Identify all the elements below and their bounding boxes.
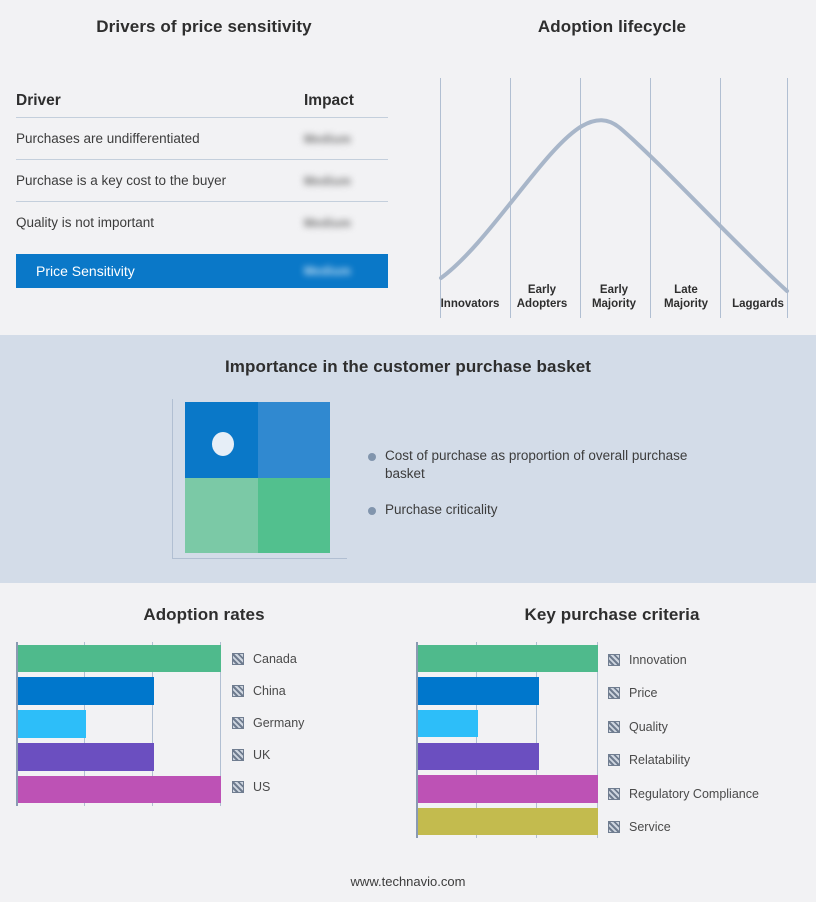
legend-label: Price (629, 686, 657, 700)
key-purchase-criteria-legend: InnovationPriceQualityRelatabilityRegula… (608, 643, 759, 844)
bar-slot (418, 675, 598, 708)
bullet-icon (368, 453, 376, 461)
legend-item: US (232, 771, 304, 803)
legend-swatch-icon (232, 653, 244, 665)
legend-item: Regulatory Compliance (608, 777, 759, 811)
legend-item: Quality (608, 710, 759, 744)
list-item: Purchase criticality (368, 501, 698, 519)
drivers-table: Driver Impact Purchases are undifferenti… (16, 92, 388, 288)
legend-item: Canada (232, 643, 304, 675)
driver-label: Quality is not important (16, 215, 304, 230)
legend-swatch-icon (608, 788, 620, 800)
impact-value: Medium (304, 130, 388, 148)
legend-swatch-icon (608, 754, 620, 766)
legend-label: Quality (629, 720, 668, 734)
adoption-rates-legend: CanadaChinaGermanyUKUS (232, 643, 304, 803)
legend-swatch-icon (608, 721, 620, 733)
impact-redacted-text: Medium (304, 132, 351, 146)
highlight-impact-value: Medium (304, 262, 388, 280)
legend-label: Relatability (629, 753, 690, 767)
legend-item: Service (608, 811, 759, 845)
bar-relatability (418, 743, 539, 770)
bullet-icon (368, 507, 376, 515)
bar-service (418, 808, 598, 835)
bar-slot (18, 642, 221, 675)
key-purchase-criteria-plot (416, 642, 598, 838)
impact-value: Medium (304, 214, 388, 232)
stage-line-2: Laggards (722, 298, 794, 312)
legend-swatch-icon (232, 685, 244, 697)
legend-swatch-icon (608, 654, 620, 666)
bar-innovation (418, 645, 598, 672)
quadrant-bottom-left (185, 478, 258, 554)
key-purchase-criteria-chart (416, 642, 598, 838)
adoption-rates-chart (16, 642, 221, 806)
legend-swatch-icon (608, 821, 620, 833)
bar-slot (418, 707, 598, 740)
stage-line-2: Adopters (506, 298, 578, 312)
list-item: Cost of purchase as proportion of overal… (368, 447, 698, 483)
matrix-y-axis (172, 399, 173, 559)
legend-label: UK (253, 748, 270, 762)
legend-item: China (232, 675, 304, 707)
bar-slot (418, 773, 598, 806)
column-header-driver: Driver (16, 92, 304, 110)
legend-label: Germany (253, 716, 304, 730)
adoption-rates-bars (18, 642, 221, 806)
stage-line-2: Majority (578, 298, 650, 312)
stage-line-1: Early (506, 284, 578, 298)
bar-slot (418, 805, 598, 838)
legend-swatch-icon (232, 717, 244, 729)
adoption-rates-plot (16, 642, 221, 806)
bar-quality (418, 710, 478, 737)
driver-label: Purchases are undifferentiated (16, 131, 304, 146)
impact-value: Medium (304, 172, 388, 190)
stage-line-1: Early (578, 284, 650, 298)
quadrant-bottom-right (258, 478, 331, 554)
importance-title: Importance in the customer purchase bask… (0, 357, 816, 377)
table-row: Purchase is a key cost to the buyer Medi… (16, 159, 388, 201)
bar-slot (18, 773, 221, 806)
key-purchase-criteria-bars (418, 642, 598, 838)
importance-legend: Cost of purchase as proportion of overal… (368, 447, 698, 537)
bar-slot (18, 708, 221, 741)
key-purchase-criteria-panel: Key purchase criteria InnovationPriceQua… (408, 583, 816, 902)
legend-label: Service (629, 820, 671, 834)
lifecycle-stage-early-adopters: Early Adopters (506, 272, 578, 314)
lifecycle-stage-late-majority: Late Majority (650, 272, 722, 314)
stage-line-2: Innovators (434, 298, 506, 312)
column-header-impact: Impact (304, 92, 388, 110)
legend-item: Price (608, 677, 759, 711)
legend-item: Germany (232, 707, 304, 739)
lifecycle-stage-innovators: Innovators (434, 272, 506, 314)
legend-swatch-icon (232, 749, 244, 761)
legend-item: UK (232, 739, 304, 771)
highlight-label: Price Sensitivity (36, 263, 304, 279)
table-row: Quality is not important Medium (16, 201, 388, 243)
legend-label: US (253, 780, 270, 794)
adoption-rates-panel: Adoption rates CanadaChinaGermanyUKUS (0, 583, 408, 902)
importance-panel: Importance in the customer purchase bask… (0, 335, 816, 583)
drivers-table-header: Driver Impact (16, 92, 388, 117)
driver-label: Purchase is a key cost to the buyer (16, 173, 304, 188)
legend-item: Innovation (608, 643, 759, 677)
table-row: Purchases are undifferentiated Medium (16, 117, 388, 159)
bar-slot (418, 642, 598, 675)
impact-redacted-text: Medium (304, 216, 351, 230)
quadrant-top-right (258, 402, 331, 478)
lifecycle-stage-early-majority: Early Majority (578, 272, 650, 314)
bar-price (418, 677, 539, 704)
bar-uk (18, 743, 154, 771)
bar-slot (18, 740, 221, 773)
impact-redacted-text: Medium (304, 174, 351, 188)
legend-label: Canada (253, 652, 297, 666)
importance-matrix-chart (172, 399, 352, 569)
adoption-rates-title: Adoption rates (0, 605, 408, 625)
matrix-x-axis (172, 558, 347, 559)
bar-germany (18, 710, 86, 738)
bar-china (18, 677, 154, 705)
stage-line-1: Late (650, 284, 722, 298)
legend-label: Innovation (629, 653, 687, 667)
bar-regulatory-compliance (418, 775, 598, 802)
stage-line-2: Majority (650, 298, 722, 312)
bar-slot (418, 740, 598, 773)
footer-url: www.technavio.com (0, 874, 816, 889)
key-purchase-criteria-title: Key purchase criteria (408, 605, 816, 625)
adoption-lifecycle-title: Adoption lifecycle (408, 17, 816, 37)
bar-us (18, 776, 221, 804)
legend-label: Purchase criticality (385, 501, 498, 519)
bar-canada (18, 645, 221, 673)
lifecycle-stage-labels: Innovators Early Adopters Early Majority… (434, 272, 794, 314)
matrix-position-marker (212, 432, 234, 456)
legend-label: Regulatory Compliance (629, 787, 759, 801)
adoption-lifecycle-panel: Adoption lifecycle Innovators Early Adop… (408, 0, 816, 335)
legend-label: Cost of purchase as proportion of overal… (385, 447, 698, 483)
quadrant-matrix (185, 402, 330, 553)
drivers-panel: Drivers of price sensitivity Driver Impa… (0, 0, 408, 335)
lifecycle-stage-laggards: Laggards (722, 272, 794, 314)
bar-slot (18, 675, 221, 708)
bell-curve-line (441, 120, 787, 291)
impact-redacted-text: Medium (304, 264, 351, 278)
quadrant-top-left (185, 402, 258, 478)
price-sensitivity-highlight-row: Price Sensitivity Medium (16, 254, 388, 288)
legend-swatch-icon (608, 687, 620, 699)
legend-swatch-icon (232, 781, 244, 793)
legend-item: Relatability (608, 744, 759, 778)
drivers-title: Drivers of price sensitivity (0, 17, 408, 37)
legend-label: China (253, 684, 286, 698)
